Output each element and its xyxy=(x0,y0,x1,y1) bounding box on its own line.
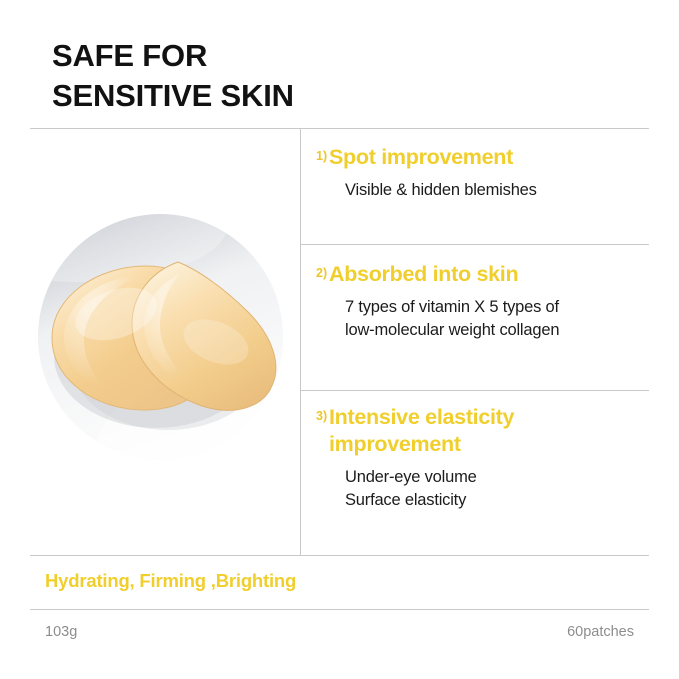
feature-1-marker: 1) xyxy=(300,144,329,163)
feature-3-body-line-1: Under-eye volume xyxy=(345,466,649,489)
feature-item-1: 1) Spot improvement Visible & hidden ble… xyxy=(300,144,649,202)
page-title-line-1: SAFE FOR xyxy=(52,36,612,76)
feature-1-head: 1) Spot improvement xyxy=(300,144,649,171)
divider-below-tagline xyxy=(30,609,649,610)
divider-between-feature-2-and-3 xyxy=(300,390,649,391)
feature-2-body-line-2: low-molecular weight collagen xyxy=(345,319,649,342)
feature-3-headline: Intensive elasticity improvement xyxy=(329,404,649,458)
feature-3-head: 3) Intensive elasticity improvement xyxy=(300,404,649,458)
feature-2-head: 2) Absorbed into skin xyxy=(300,261,649,288)
benefits-tagline: Hydrating, Firming ,Brighting xyxy=(45,568,296,594)
footer-patch-count: 60patches xyxy=(567,624,634,640)
footer-net-weight: 103g xyxy=(45,624,77,640)
feature-3-body-line-2: Surface elasticity xyxy=(345,489,649,512)
divider-above-tagline xyxy=(30,555,649,556)
divider-between-feature-1-and-2 xyxy=(300,244,649,245)
page-title-line-2: SENSITIVE SKIN xyxy=(52,76,612,116)
feature-item-3: 3) Intensive elasticity improvement Unde… xyxy=(300,404,649,512)
divider-below-title xyxy=(30,128,649,129)
page-title: SAFE FOR SENSITIVE SKIN xyxy=(52,36,612,116)
feature-3-marker: 3) xyxy=(300,404,329,423)
feature-2-headline: Absorbed into skin xyxy=(329,261,649,288)
feature-3-body: Under-eye volume Surface elasticity xyxy=(345,466,649,512)
feature-2-body: 7 types of vitamin X 5 types of low-mole… xyxy=(345,296,649,342)
eye-patch-product-photo xyxy=(38,214,283,459)
product-detail-page: SAFE FOR SENSITIVE SKIN xyxy=(0,0,679,679)
feature-2-marker: 2) xyxy=(300,261,329,280)
eye-patch-illustration xyxy=(38,214,283,459)
feature-2-body-line-1: 7 types of vitamin X 5 types of xyxy=(345,296,649,319)
feature-item-2: 2) Absorbed into skin 7 types of vitamin… xyxy=(300,261,649,342)
feature-1-headline: Spot improvement xyxy=(329,144,649,171)
feature-1-body: Visible & hidden blemishes xyxy=(345,179,649,202)
feature-1-body-line-1: Visible & hidden blemishes xyxy=(345,179,649,202)
